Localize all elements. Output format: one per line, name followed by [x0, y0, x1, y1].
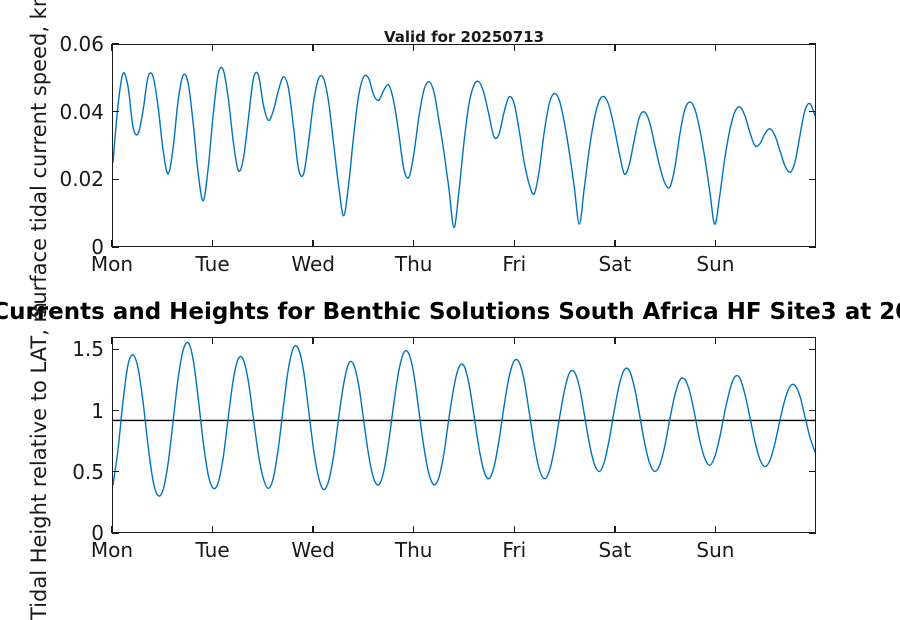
tidal-current-speed-x-tick-mark — [715, 240, 716, 247]
tidal-current-speed-y-tick-mark — [112, 111, 119, 112]
tidal-height-x-tick-label-fri: Fri — [502, 540, 526, 560]
tidal-current-speed-x-tick-mark — [614, 240, 615, 247]
tidal-height-y-tick-mark — [809, 532, 816, 533]
tidal-current-speed-series-0 — [113, 67, 815, 227]
tidal-height-x-tick-mark — [715, 337, 716, 344]
tidal-height-x-tick-mark — [413, 337, 414, 344]
tidal-current-speed-y-tick-mark — [809, 43, 816, 44]
tidal-current-speed-x-tick-label-fri: Fri — [502, 254, 526, 274]
tidal-height-x-tick-mark — [715, 526, 716, 533]
tidal-height-plot-area — [113, 338, 815, 532]
tidal-height-y-tick-mark — [112, 471, 119, 472]
tidal-height-y-tick-mark — [112, 532, 119, 533]
tidal-height-x-tick-label-wed: Wed — [291, 540, 335, 560]
tidal-height-x-tick-mark — [212, 337, 213, 344]
tidal-current-speed-y-tick-label-0: 0 — [0, 237, 104, 257]
tidal-current-speed-x-tick-mark — [413, 240, 414, 247]
tidal-height-x-tick-label-sun: Sun — [696, 540, 734, 560]
tidal-height-x-tick-mark — [514, 337, 515, 344]
chart-tidal-current-speed — [112, 44, 816, 247]
tidal-current-speed-x-tick-label-thu: Thu — [395, 254, 433, 274]
tidal-current-speed-y-tick-mark — [809, 179, 816, 180]
tidal-current-speed-x-tick-mark — [212, 44, 213, 51]
tidal-current-speed-plot-area — [113, 45, 815, 246]
tidal-current-speed-x-tick-label-wed: Wed — [291, 254, 335, 274]
tidal-current-speed-y-tick-label-3: 0.06 — [0, 34, 104, 54]
page-title: Tidal Currents and Heights for Benthic S… — [0, 299, 900, 325]
tidal-height-y-tick-label-1: 0.5 — [0, 462, 104, 482]
tidal-current-speed-x-tick-mark — [312, 44, 313, 51]
tidal-height-x-tick-mark — [111, 337, 112, 344]
tidal-current-speed-y-tick-mark — [809, 111, 816, 112]
tidal-current-speed-x-tick-label-sun: Sun — [696, 254, 734, 274]
tidal-height-x-tick-label-tue: Tue — [195, 540, 229, 560]
tidal-current-speed-x-tick-label-tue: Tue — [195, 254, 229, 274]
tidal-height-x-tick-mark — [312, 526, 313, 533]
tidal-height-x-tick-mark — [212, 526, 213, 533]
tidal-height-series-0 — [113, 342, 815, 496]
tidal-height-y-tick-mark — [112, 410, 119, 411]
tidal-current-speed-y-tick-mark — [112, 246, 119, 247]
tidal-height-y-tick-label-3: 1.5 — [0, 339, 104, 359]
tidal-height-x-tick-mark — [413, 526, 414, 533]
tidal-height-x-tick-mark — [614, 337, 615, 344]
tidal-current-speed-y-tick-label-2: 0.04 — [0, 102, 104, 122]
tidal-height-x-tick-label-thu: Thu — [395, 540, 433, 560]
tidal-current-speed-y-tick-mark — [809, 246, 816, 247]
tidal-current-speed-y-axis-title: Surface tidal current speed, kn — [29, 0, 50, 318]
tidal-current-speed-subtitle: Valid for 20250713 — [384, 28, 544, 46]
tidal-height-y-tick-label-2: 1 — [0, 401, 104, 421]
tidal-current-speed-y-tick-label-1: 0.02 — [0, 169, 104, 189]
tidal-height-y-tick-mark — [809, 471, 816, 472]
tidal-figure: MonTueWedThuFriSatSun 00.020.040.06 Surf… — [0, 0, 900, 600]
tidal-current-speed-x-tick-mark — [111, 44, 112, 51]
tidal-current-speed-y-tick-mark — [112, 43, 119, 44]
tidal-height-x-tick-label-sat: Sat — [598, 540, 631, 560]
tidal-height-y-tick-mark — [809, 410, 816, 411]
tidal-current-speed-y-tick-mark — [112, 179, 119, 180]
tidal-current-speed-x-tick-mark — [212, 240, 213, 247]
tidal-height-y-tick-mark — [112, 349, 119, 350]
tidal-height-y-axis-title: Tidal Height relative to LAT, m — [29, 302, 50, 620]
tidal-current-speed-x-tick-mark — [312, 240, 313, 247]
tidal-height-y-tick-label-0: 0 — [0, 523, 104, 543]
tidal-height-x-tick-mark — [312, 337, 313, 344]
tidal-current-speed-x-tick-label-sat: Sat — [598, 254, 631, 274]
tidal-height-x-tick-mark — [614, 526, 615, 533]
tidal-current-speed-x-tick-mark — [614, 44, 615, 51]
tidal-current-speed-x-tick-mark — [514, 240, 515, 247]
chart-tidal-height — [112, 337, 816, 533]
tidal-height-x-tick-mark — [514, 526, 515, 533]
tidal-current-speed-x-tick-mark — [715, 44, 716, 51]
tidal-height-y-tick-mark — [809, 349, 816, 350]
